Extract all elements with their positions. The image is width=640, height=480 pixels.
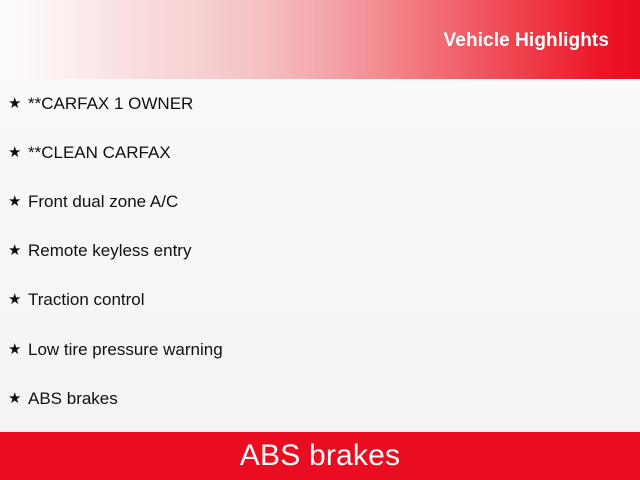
list-item: ★ ABS brakes xyxy=(0,374,640,423)
footer-caption: ABS brakes xyxy=(240,439,400,473)
star-icon: ★ xyxy=(8,292,28,307)
footer-banner: ABS brakes xyxy=(0,432,640,480)
list-item-label: **CLEAN CARFAX xyxy=(28,143,640,163)
star-icon: ★ xyxy=(8,342,28,357)
star-icon: ★ xyxy=(8,194,28,209)
list-item-label: Traction control xyxy=(28,290,640,310)
list-item: ★ Traction control xyxy=(0,276,640,325)
list-item-label: ABS brakes xyxy=(28,389,640,409)
list-item: ★ Front dual zone A/C xyxy=(0,177,640,226)
list-item: ★ **CLEAN CARFAX xyxy=(0,128,640,177)
header-band: Vehicle Highlights xyxy=(0,0,640,79)
list-item: ★ **CARFAX 1 OWNER xyxy=(0,79,640,128)
page-title: Vehicle Highlights xyxy=(444,30,609,52)
list-item: ★ Remote keyless entry xyxy=(0,227,640,276)
list-item-label: Remote keyless entry xyxy=(28,241,640,261)
star-icon: ★ xyxy=(8,145,28,160)
list-item: ★ Low tire pressure warning xyxy=(0,325,640,374)
star-icon: ★ xyxy=(8,243,28,258)
vehicle-highlights-slide: Vehicle Highlights ★ **CARFAX 1 OWNER ★ … xyxy=(0,0,640,480)
star-icon: ★ xyxy=(8,96,28,111)
list-item-label: Low tire pressure warning xyxy=(28,340,640,360)
list-item-label: Front dual zone A/C xyxy=(28,192,640,212)
highlights-list: ★ **CARFAX 1 OWNER ★ **CLEAN CARFAX ★ Fr… xyxy=(0,79,640,432)
star-icon: ★ xyxy=(8,391,28,406)
list-item-label: **CARFAX 1 OWNER xyxy=(28,94,640,114)
